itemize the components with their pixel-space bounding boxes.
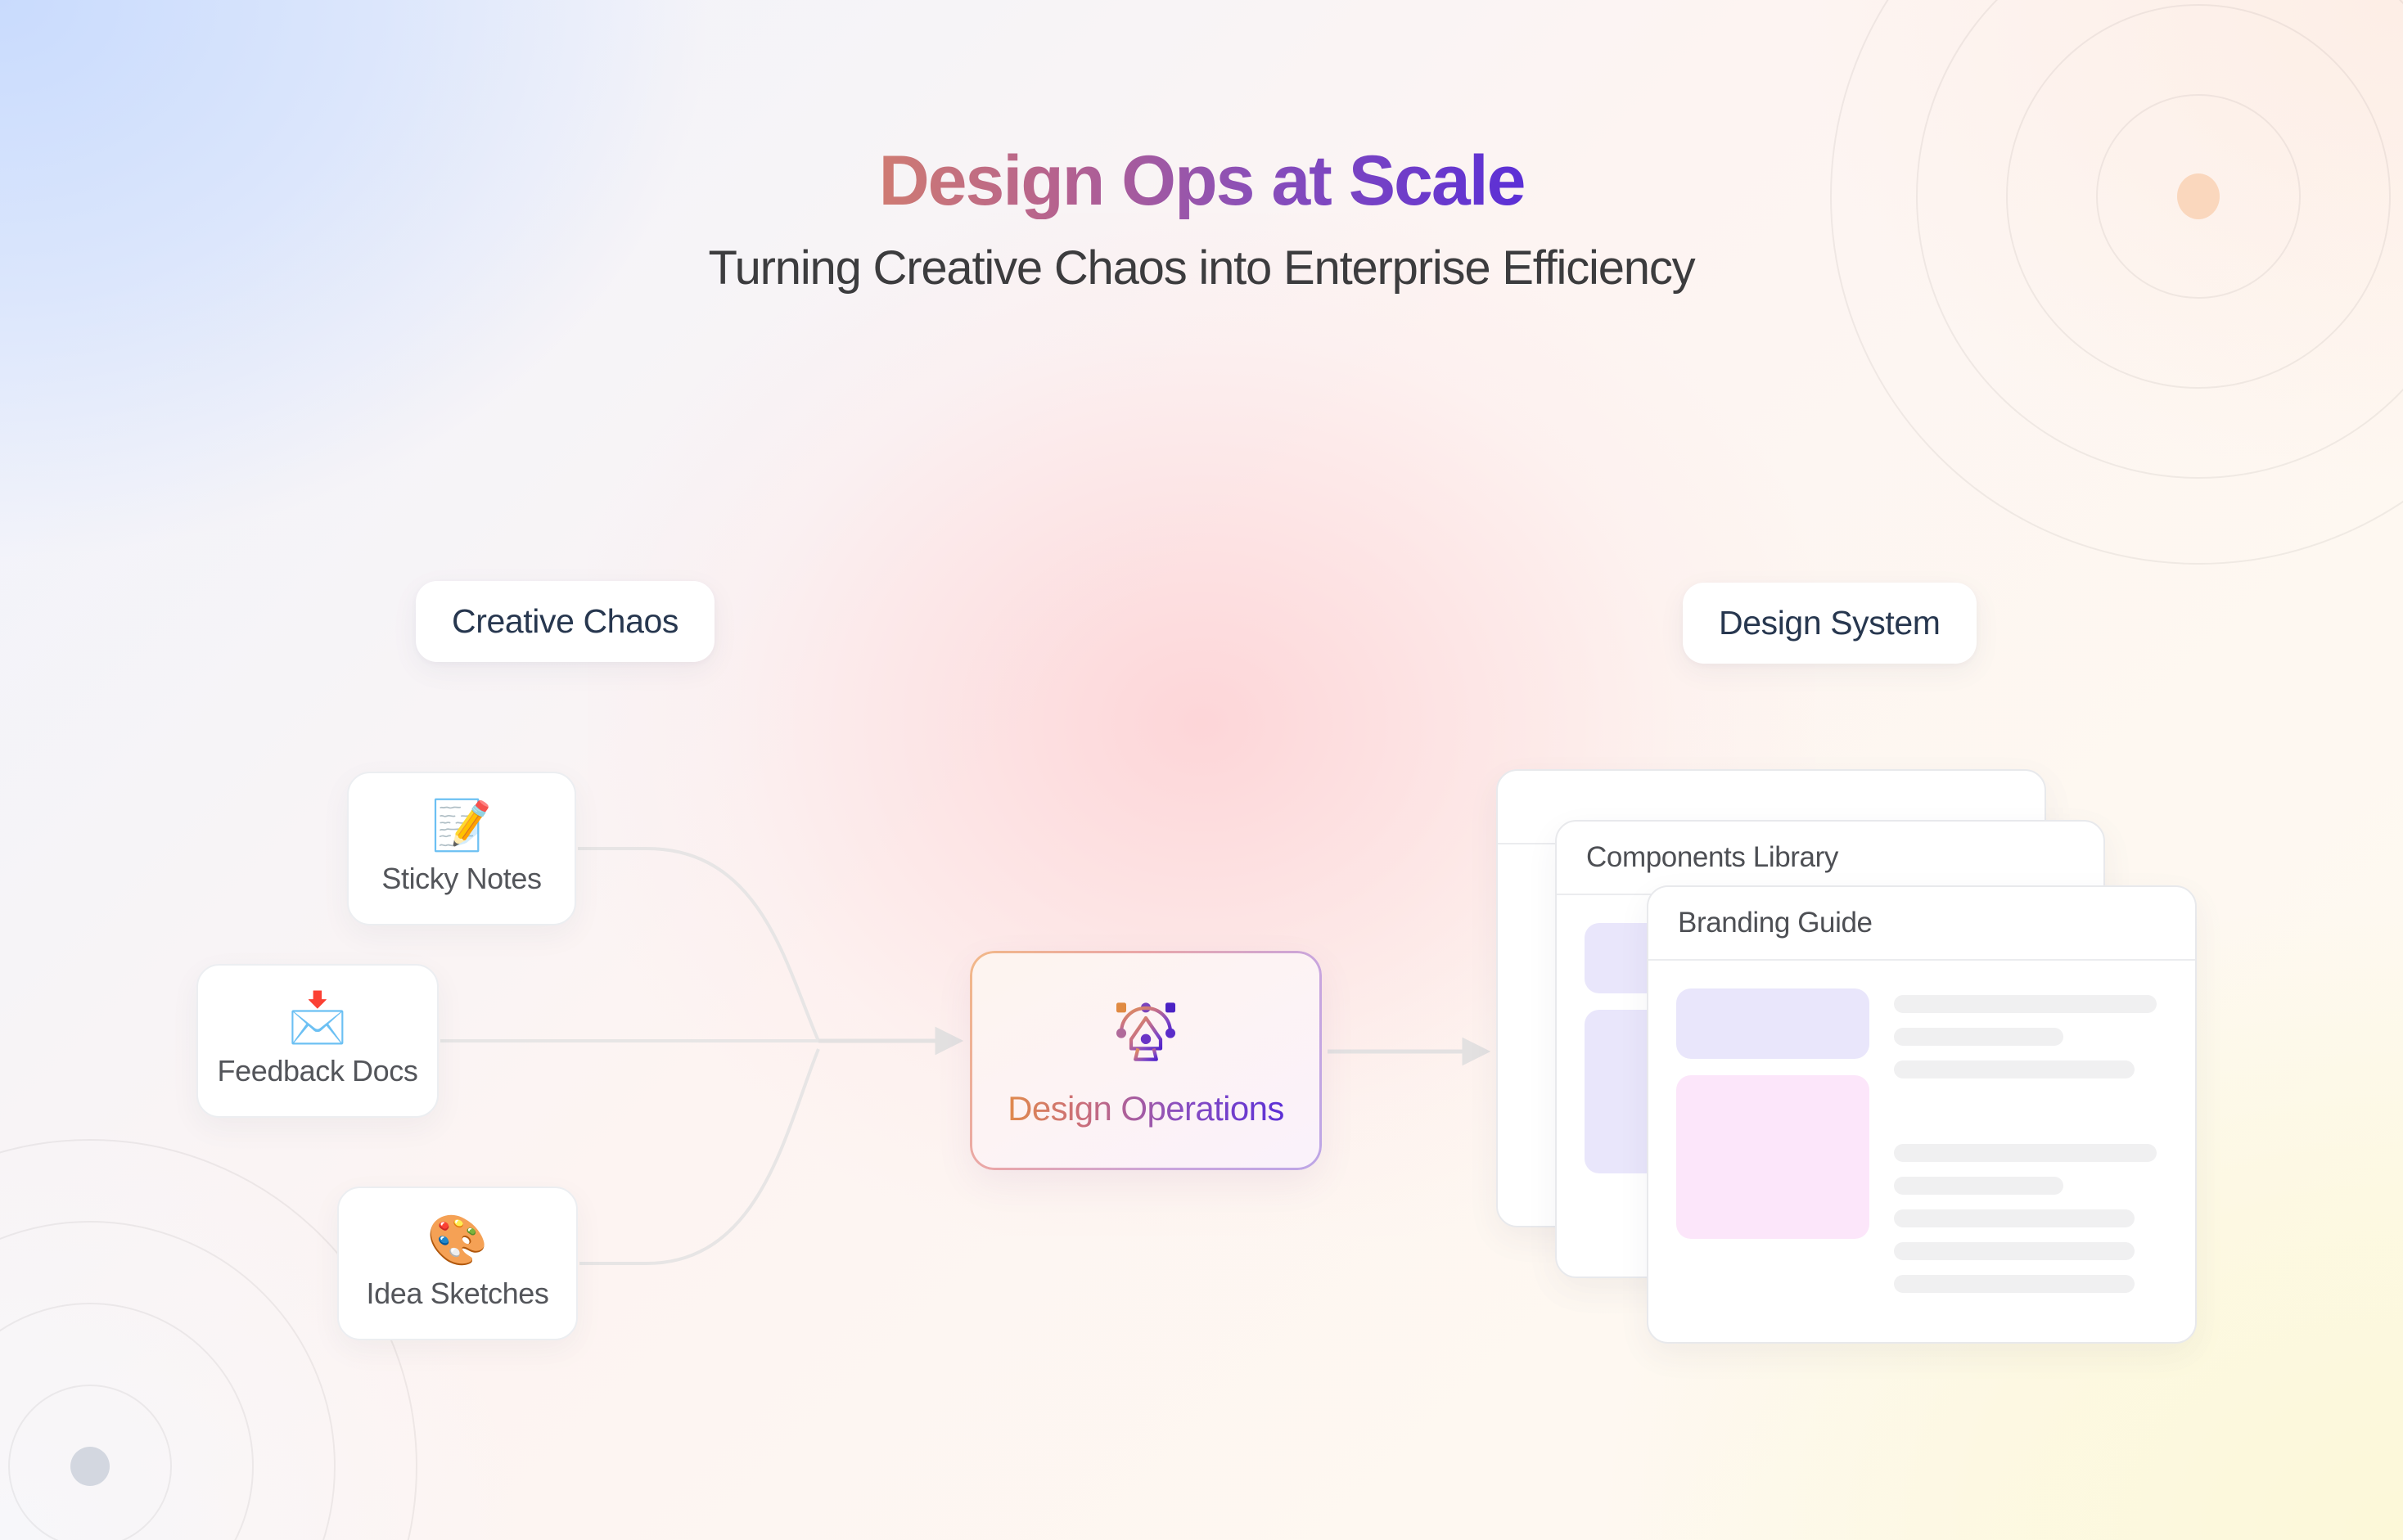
- output-card-body: [1648, 961, 2195, 1293]
- page-title: Design Ops at Scale: [879, 143, 1525, 219]
- source-card-label: Feedback Docs: [218, 1054, 418, 1088]
- source-card-label: Sticky Notes: [381, 862, 541, 896]
- page-subtitle: Turning Creative Chaos into Enterprise E…: [0, 242, 2403, 295]
- source-card-idea-sketches[interactable]: 🎨 Idea Sketches: [337, 1187, 578, 1340]
- skeleton-lines: [1894, 988, 2167, 1293]
- group-label-creative-chaos: Creative Chaos: [416, 581, 715, 662]
- swatch-column: [1676, 988, 1869, 1293]
- output-card-title: Branding Guide: [1648, 887, 2195, 961]
- pen-tool-bezier-icon: [1106, 993, 1186, 1071]
- feedback-docs-icon: 📩: [287, 993, 349, 1042]
- output-card-title: Components Library: [1557, 822, 2103, 895]
- output-card-branding-guide[interactable]: Branding Guide: [1647, 885, 2197, 1344]
- group-label-design-system: Design System: [1683, 583, 1977, 664]
- swatch-pink: [1676, 1075, 1869, 1239]
- source-card-sticky-notes[interactable]: 📝 Sticky Notes: [347, 772, 576, 925]
- idea-sketch-icon: 🎨: [427, 1216, 489, 1265]
- center-node-design-operations[interactable]: Design Operations: [970, 951, 1322, 1170]
- page-header: Design Ops at Scale Turning Creative Cha…: [0, 143, 2403, 295]
- center-node-label: Design Operations: [1008, 1089, 1284, 1128]
- source-card-feedback-docs[interactable]: 📩 Feedback Docs: [196, 964, 439, 1118]
- source-card-label: Idea Sketches: [367, 1277, 549, 1311]
- swatch-purple: [1676, 988, 1869, 1059]
- sticky-note-icon: 📝: [431, 801, 493, 850]
